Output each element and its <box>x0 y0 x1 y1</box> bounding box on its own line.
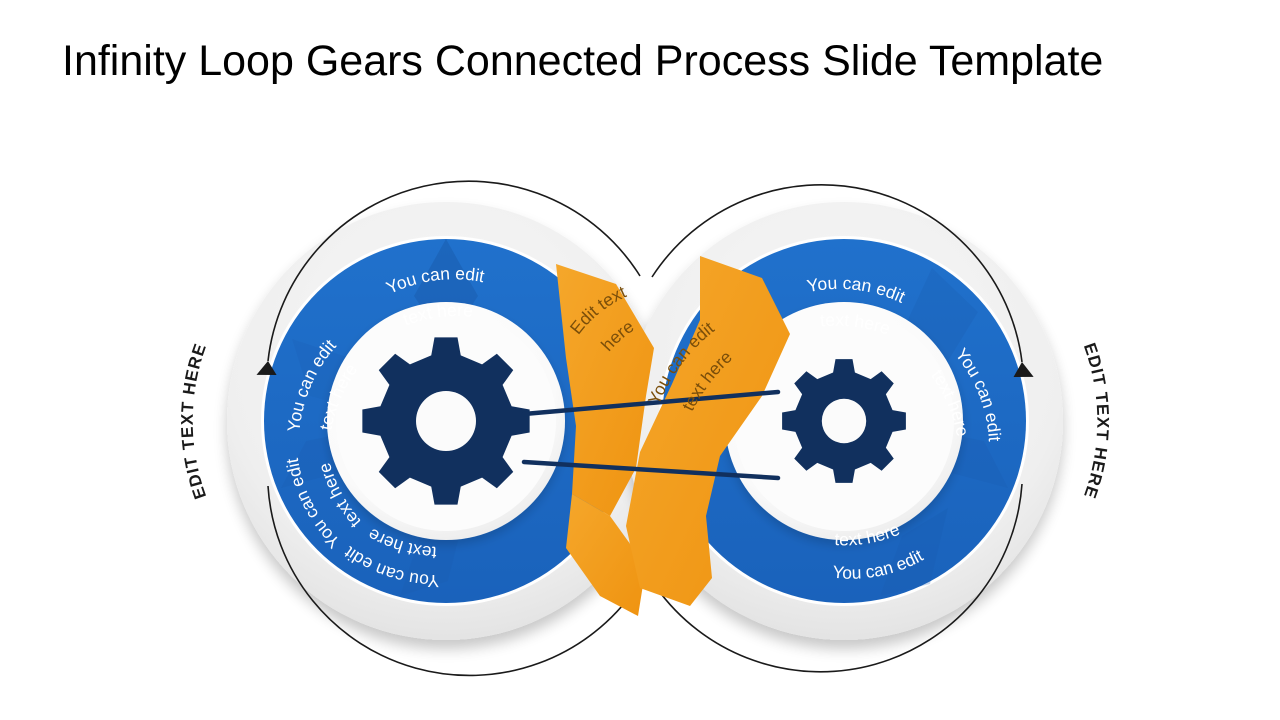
right-ring-label: EDIT TEXT HERE <box>1080 341 1112 502</box>
infinity-loop-diagram: EDIT TEXT HERE You can edit text here Yo… <box>0 96 1280 696</box>
slide-canvas: Infinity Loop Gears Connected Process Sl… <box>0 0 1280 720</box>
gear-icon <box>362 337 529 504</box>
page-title: Infinity Loop Gears Connected Process Sl… <box>62 38 1222 85</box>
left-ring-label: EDIT TEXT HERE <box>178 341 210 502</box>
gear-icon <box>782 359 906 483</box>
